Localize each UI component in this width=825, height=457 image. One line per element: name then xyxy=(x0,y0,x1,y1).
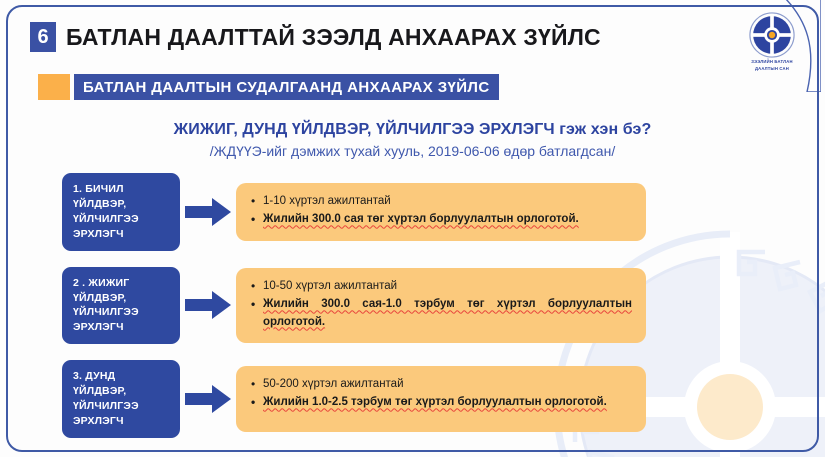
category-row: 2 . ЖИЖИГ ҮЙЛДВЭР, ҮЙЛЧИЛГЭЭ ЭРХЛЭГЧ 10-… xyxy=(0,267,825,345)
category-label-1: 1. БИЧИЛ ҮЙЛДВЭР, ҮЙЛЧИЛГЭЭ ЭРХЛЭГЧ xyxy=(62,173,180,251)
subtitle-bar-label: БАТЛАН ДААЛТЫН СУДАЛГААНД АНХААРАХ ЗҮЙЛС xyxy=(74,74,499,100)
bullet-text: Жилийн 1.0-2.5 тэрбум төг хүртэл борлуул… xyxy=(263,396,607,408)
bullet-text: 10-50 хүртэл ажилтантай xyxy=(263,280,397,292)
category-row: 1. БИЧИЛ ҮЙЛДВЭР, ҮЙЛЧИЛГЭЭ ЭРХЛЭГЧ 1-10… xyxy=(0,173,825,251)
subtitle-bar: БАТЛАН ДААЛТЫН СУДАЛГААНД АНХААРАХ ЗҮЙЛС xyxy=(38,74,499,100)
category-row: 3. ДУНД ҮЙЛДВЭР, ҮЙЛЧИЛГЭЭ ЭРХЛЭГЧ 50-20… xyxy=(0,360,825,438)
slide: ЗЭЭЛИЙН БАТЛАН ДААЛТЫН САН 6 БАТЛАН ДААЛ… xyxy=(0,0,825,457)
main-heading-block: ЖИЖИГ, ДУНД ҮЙЛДВЭР, ҮЙЛЧИЛГЭЭ ЭРХЛЭГЧ г… xyxy=(0,121,825,159)
category-content-3: 50-200 хүртэл ажилтантай Жилийн 1.0-2.5 … xyxy=(236,366,646,432)
category-content-2: 10-50 хүртэл ажилтантай Жилийн 300.0 сая… xyxy=(236,268,646,343)
slide-number-badge: 6 xyxy=(30,22,56,52)
bullet-item: Жилийн 300.0 сая төг хүртэл борлуулалтын… xyxy=(250,211,632,228)
category-rows: 1. БИЧИЛ ҮЙЛДВЭР, ҮЙЛЧИЛГЭЭ ЭРХЛЭГЧ 1-10… xyxy=(0,173,825,454)
bullet-item: Жилийн 1.0-2.5 тэрбум төг хүртэл борлуул… xyxy=(250,394,632,411)
bullet-text: 50-200 хүртэл ажилтантай xyxy=(263,378,404,390)
bullet-item: 10-50 хүртэл ажилтантай xyxy=(250,278,632,295)
bullet-text: 1-10 хүртэл ажилтантай xyxy=(263,195,391,207)
main-heading: ЖИЖИГ, ДУНД ҮЙЛДВЭР, ҮЙЛЧИЛГЭЭ ЭРХЛЭГЧ г… xyxy=(0,121,825,139)
main-heading-subtext: /ЖДҮҮЭ-ийг дэмжих тухай хууль, 2019-06-0… xyxy=(0,143,825,159)
logo-caption-line1: ЗЭЭЛИЙН БАТЛАН xyxy=(741,59,803,65)
page-title: БАТЛАН ДААЛТТАЙ ЗЭЭЛД АНХААРАХ ЗҮЙЛС xyxy=(66,24,601,51)
category-label-2: 2 . ЖИЖИГ ҮЙЛДВЭР, ҮЙЛЧИЛГЭЭ ЭРХЛЭГЧ xyxy=(62,267,180,345)
bullet-item: 1-10 хүртэл ажилтантай xyxy=(250,193,632,210)
slide-title-row: 6 БАТЛАН ДААЛТТАЙ ЗЭЭЛД АНХААРАХ ЗҮЙЛС xyxy=(30,22,601,52)
category-label-3: 3. ДУНД ҮЙЛДВЭР, ҮЙЛЧИЛГЭЭ ЭРХЛЭГЧ xyxy=(62,360,180,438)
bullet-item: Жилийн 300.0 сая-1.0 тэрбум төг хүртэл б… xyxy=(250,296,632,331)
logo-caption-line2: ДААЛТЫН САН xyxy=(741,66,803,72)
organization-logo: ЗЭЭЛИЙН БАТЛАН ДААЛТЫН САН xyxy=(741,12,803,84)
bullet-item: 50-200 хүртэл ажилтантай xyxy=(250,376,632,393)
bullet-text: Жилийн 300.0 сая-1.0 тэрбум төг хүртэл б… xyxy=(263,298,632,327)
category-content-1: 1-10 хүртэл ажилтантай Жилийн 300.0 сая … xyxy=(236,183,646,241)
orange-accent-swatch xyxy=(38,74,70,100)
bullet-text: Жилийн 300.0 сая төг хүртэл борлуулалтын… xyxy=(263,213,579,225)
circular-emblem-icon xyxy=(749,12,795,58)
arrow-right-icon xyxy=(180,385,236,413)
arrow-right-icon xyxy=(180,198,236,226)
arrow-right-icon xyxy=(180,291,236,319)
